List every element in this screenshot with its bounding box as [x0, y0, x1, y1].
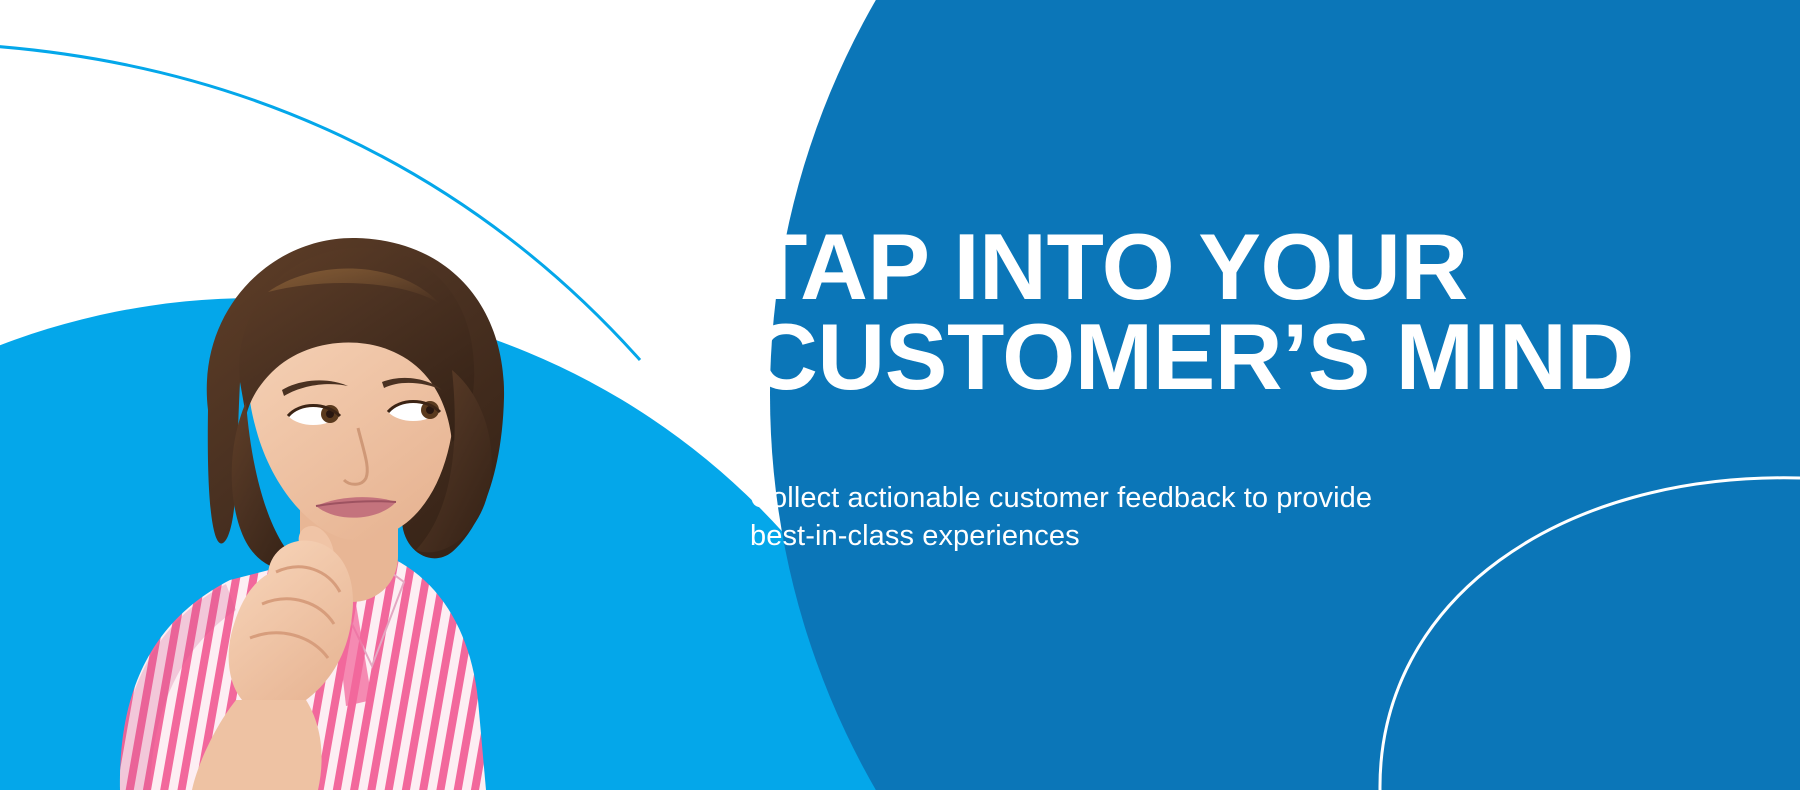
page-title: TAP INTO YOUR CUSTOMER’S MIND — [750, 222, 1710, 402]
hero-banner: TAP INTO YOUR CUSTOMER’S MIND Collect ac… — [0, 0, 1800, 790]
subheadline-line-2: best-in-class experiences — [750, 517, 1710, 555]
headline-line-1: TAP INTO YOUR — [750, 222, 1710, 312]
subheadline: Collect actionable customer feedback to … — [750, 402, 1710, 555]
headline-line-2: CUSTOMER’S MIND — [750, 312, 1710, 402]
copy-block: TAP INTO YOUR CUSTOMER’S MIND Collect ac… — [750, 222, 1710, 555]
subheadline-line-1: Collect actionable customer feedback to … — [750, 479, 1710, 517]
